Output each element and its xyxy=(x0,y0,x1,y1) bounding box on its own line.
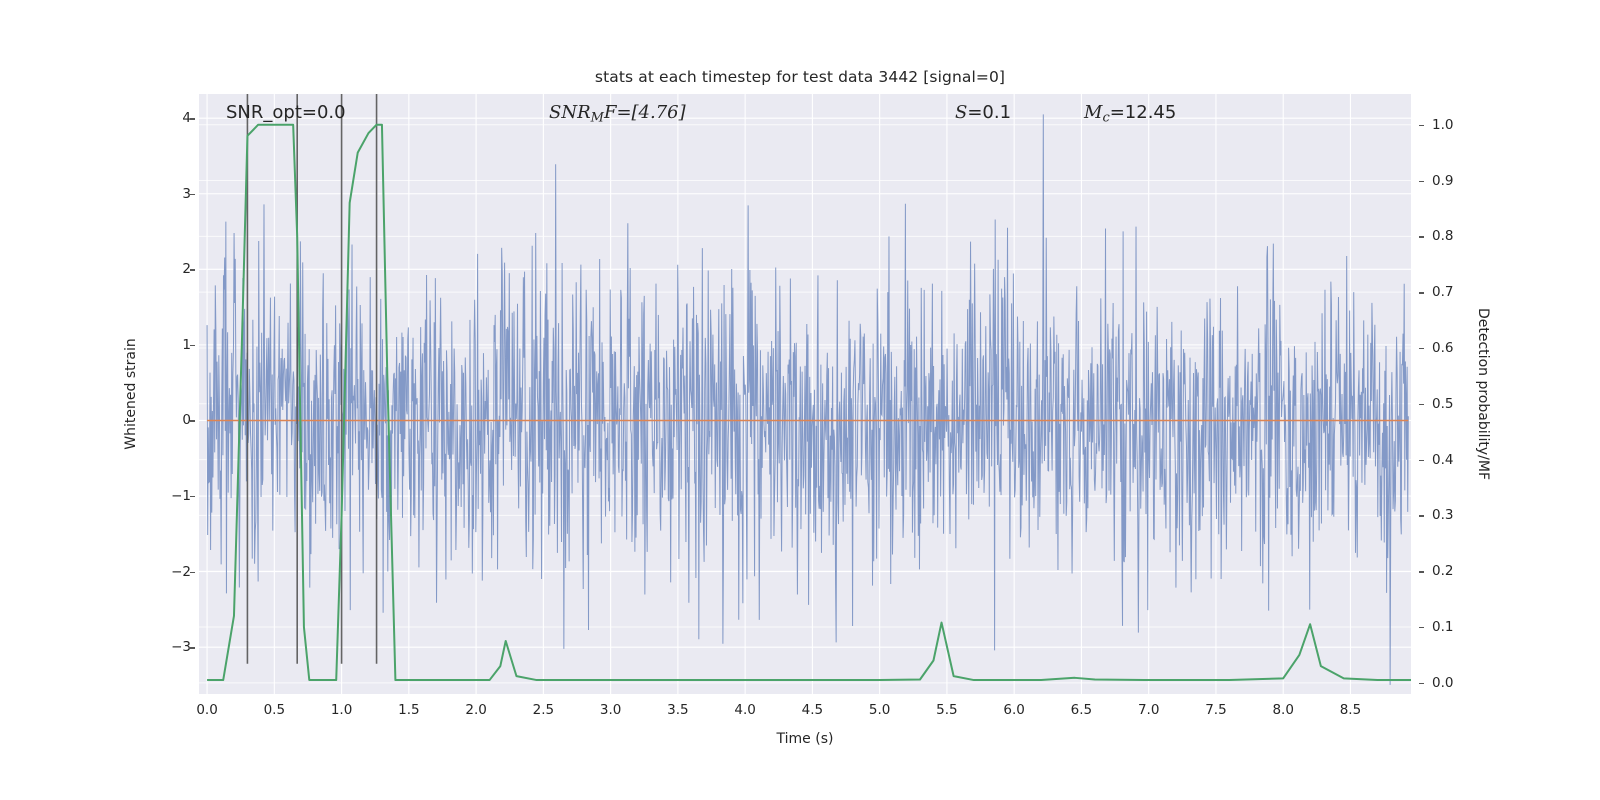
annotation-value: =0.1 xyxy=(967,102,1011,123)
annotation-subscript: c xyxy=(1102,111,1109,126)
annotation-subscript: M xyxy=(591,111,604,126)
y-axis-right-label: Detection probability/MF xyxy=(1475,308,1491,480)
y-tick-label-right: 0.6 xyxy=(1432,340,1453,356)
y-tick-label-left: −2 xyxy=(171,564,191,580)
annotation-s-stat: S=0.1 xyxy=(955,102,1011,123)
annotation-mchirp: Mc=12.45 xyxy=(1084,102,1176,126)
y-tick-mark-left xyxy=(190,118,195,119)
y-tick-mark-left xyxy=(190,345,195,346)
annotation-value: SNR_opt=0.0 xyxy=(226,102,346,123)
y-tick-mark-right xyxy=(1419,292,1424,293)
x-tick-label: 6.5 xyxy=(1071,702,1092,718)
x-tick-label: 0.0 xyxy=(196,702,217,718)
annotation-symbol: S xyxy=(955,102,967,123)
y-tick-mark-right xyxy=(1419,683,1424,684)
x-tick-label: 3.0 xyxy=(600,702,621,718)
y-tick-label-right: 0.9 xyxy=(1432,173,1453,189)
y-tick-mark-right xyxy=(1419,404,1424,405)
annotation-value: =12.45 xyxy=(1110,102,1177,123)
plot-axes[interactable]: SNR_opt=0.0SNRMF=[4.76]S=0.1Mc=12.45 sig… xyxy=(199,94,1411,694)
y-tick-mark-left xyxy=(190,496,195,497)
x-tick-label: 6.0 xyxy=(1003,702,1024,718)
x-tick-label: 0.5 xyxy=(264,702,285,718)
y-tick-mark-right xyxy=(1419,571,1424,572)
y-tick-label-left: −3 xyxy=(171,639,191,655)
matplotlib-figure: stats at each timestep for test data 344… xyxy=(0,0,1600,800)
x-tick-label: 7.5 xyxy=(1205,702,1226,718)
y-tick-label-right: 0.1 xyxy=(1432,619,1453,635)
y-tick-label-right: 0.3 xyxy=(1432,507,1453,523)
x-tick-label: 8.5 xyxy=(1340,702,1361,718)
annotation-value: F=[4.76] xyxy=(604,102,686,123)
x-tick-label: 7.0 xyxy=(1138,702,1159,718)
plot-canvas xyxy=(199,94,1411,694)
y-tick-label-left: −1 xyxy=(171,488,191,504)
y-tick-label-right: 1.0 xyxy=(1432,117,1453,133)
x-tick-label: 2.5 xyxy=(533,702,554,718)
x-tick-label: 8.0 xyxy=(1272,702,1293,718)
y-tick-mark-right xyxy=(1419,515,1424,516)
y-tick-label-right: 0.5 xyxy=(1432,396,1453,412)
x-tick-label: 2.0 xyxy=(465,702,486,718)
y-tick-mark-right xyxy=(1419,125,1424,126)
y-tick-mark-left xyxy=(190,194,195,195)
x-axis-label: Time (s) xyxy=(777,731,834,747)
y-tick-label-right: 0.8 xyxy=(1432,228,1453,244)
annotation-symbol: SNR xyxy=(549,102,591,123)
y-tick-mark-left xyxy=(190,647,195,648)
y-tick-mark-left xyxy=(190,420,195,421)
chart-title: stats at each timestep for test data 344… xyxy=(0,68,1600,86)
y-tick-mark-right xyxy=(1419,236,1424,237)
x-tick-label: 4.0 xyxy=(734,702,755,718)
x-tick-label: 4.5 xyxy=(802,702,823,718)
y-tick-mark-left xyxy=(190,269,195,270)
x-tick-label: 1.0 xyxy=(331,702,352,718)
y-tick-mark-right xyxy=(1419,181,1424,182)
y-tick-label-right: 0.2 xyxy=(1432,563,1453,579)
y-tick-mark-right xyxy=(1419,627,1424,628)
x-tick-label: 3.5 xyxy=(667,702,688,718)
annotation-symbol: M xyxy=(1084,102,1102,123)
y-tick-mark-right xyxy=(1419,460,1424,461)
y-tick-label-right: 0.4 xyxy=(1432,452,1453,468)
y-tick-mark-left xyxy=(190,572,195,573)
y-tick-mark-right xyxy=(1419,348,1424,349)
annotation-snr-mf: SNRMF=[4.76] xyxy=(549,102,686,126)
x-tick-label: 5.0 xyxy=(869,702,890,718)
y-tick-label-right: 0.7 xyxy=(1432,284,1453,300)
y-axis-left-label: Whitened strain xyxy=(123,338,139,449)
annotation-snr-opt: SNR_opt=0.0 xyxy=(226,102,346,123)
x-tick-label: 1.5 xyxy=(398,702,419,718)
y-tick-label-right: 0.0 xyxy=(1432,675,1453,691)
x-tick-label: 5.5 xyxy=(936,702,957,718)
